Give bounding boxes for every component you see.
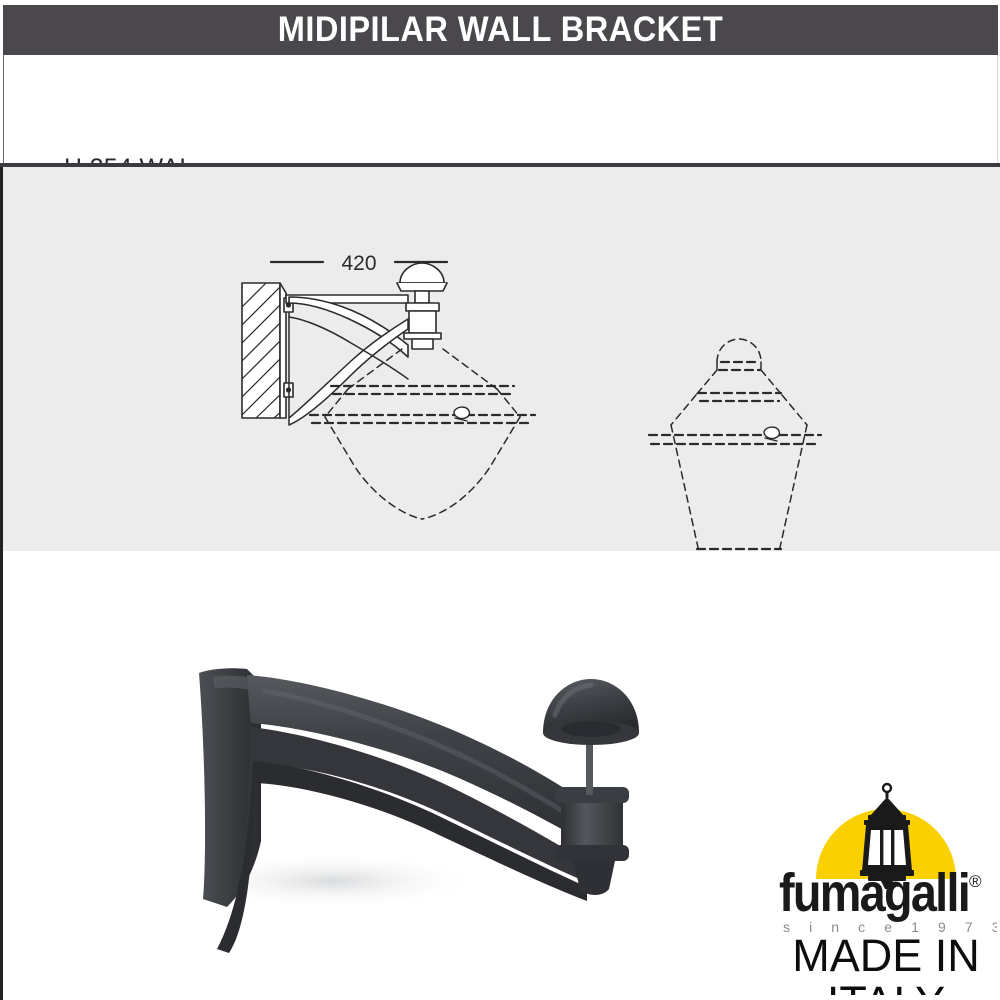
technical-drawings-svg: 420 [3,167,1000,551]
collar-body [561,795,623,853]
technical-drawing-panel: 420 [0,167,1000,551]
page-title: MIDIPILAR WALL BRACKET [278,10,723,50]
made-in-line2: ITALY [827,977,945,995]
header-bar: MIDIPILAR WALL BRACKET [3,5,998,55]
lamp-head-assembly [397,263,447,349]
bracket-gusset [227,727,589,947]
datasheet-page: MIDIPILAR WALL BRACKET H.254.WAL [0,0,1000,1000]
lantern-bands-dashed [310,386,535,423]
dimension-label-420: 420 [341,252,376,275]
bracket-arm [286,295,408,425]
product-code-band: H.254.WAL [3,55,998,165]
bracket-photo-body [183,668,639,953]
lantern-latch-detail [764,427,779,441]
logo-svg: fumagalli ® s i n c e 1 9 7 3 MADE IN IT… [775,775,997,995]
dome-underside [561,721,621,737]
brand-wordmark: fumagalli [779,863,969,923]
upper-stem [586,737,593,795]
drawing-left-view [242,262,535,519]
wall-section [242,283,284,418]
collar-bottom-ring [555,845,629,861]
lantern-latch-detail [454,407,469,421]
lantern-outline-dashed [325,349,520,519]
lantern-bands-dashed [649,362,821,551]
made-in-line1: MADE IN [792,930,980,981]
registered-mark: ® [969,872,982,891]
fumagalli-logo: fumagalli ® s i n c e 1 9 7 3 MADE IN IT… [775,775,997,995]
drawing-right-view [557,339,821,551]
